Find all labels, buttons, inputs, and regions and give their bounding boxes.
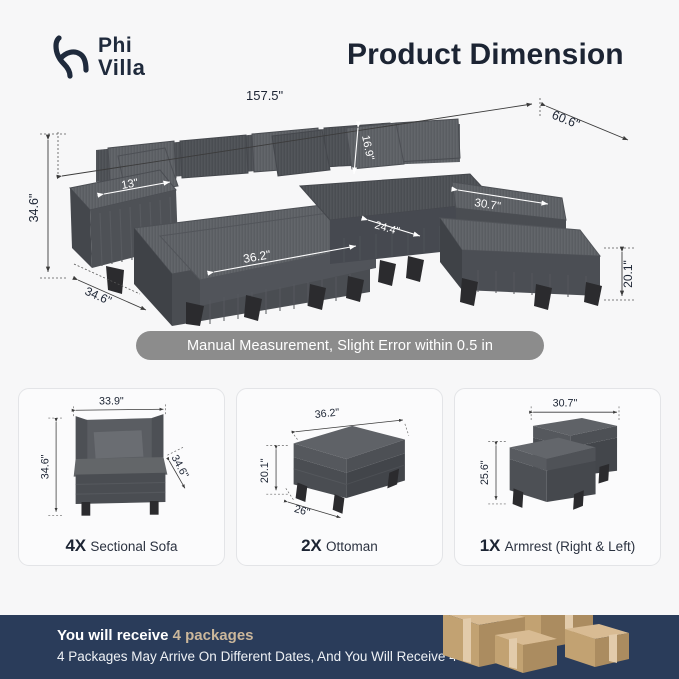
card-ottoman[interactable]: 36.2" 20.1" 26" 2X Ottoman	[236, 388, 443, 566]
sofa-body	[70, 119, 602, 326]
card2-dim-depth: 26"	[293, 503, 312, 519]
dim-overall-width: 157.5"	[246, 88, 284, 103]
card3-dim-height: 25.6"	[479, 460, 491, 485]
card-qty: 1X	[480, 536, 500, 555]
sectional-sofa-art: 33.9" 34.6" 34.6"	[19, 391, 224, 531]
card-name: Ottoman	[326, 539, 378, 554]
measurement-note: Manual Measurement, Slight Error within …	[136, 331, 544, 360]
measurement-note-text: Manual Measurement, Slight Error within …	[187, 338, 493, 354]
brand-name: Phi Villa	[98, 36, 145, 78]
card-caption: 2X Ottoman	[237, 536, 442, 556]
dim-overall-depth: 60.6"	[550, 108, 582, 132]
cardboard-boxes-icon	[433, 615, 673, 677]
card-caption: 4X Sectional Sofa	[19, 536, 224, 556]
component-cards: 33.9" 34.6" 34.6" 4X Sectional Sofa	[18, 388, 661, 566]
packages-lead: You will receive	[57, 627, 173, 644]
card3-dim-width: 30.7"	[553, 397, 578, 409]
card-armrest[interactable]: 30.7" 25.6" 1X Armrest (Right & Left)	[454, 388, 661, 566]
sofa-illustration: 157.5" 60.6" 34.6" 13" 16.9" 24.4"	[0, 78, 679, 326]
card1-dim-width: 33.9"	[99, 395, 124, 407]
card-qty: 2X	[301, 536, 321, 555]
card-sectional-sofa[interactable]: 33.9" 34.6" 34.6" 4X Sectional Sofa	[18, 388, 225, 566]
brand-name-line1: Phi	[98, 36, 145, 57]
page-title: Product Dimension	[347, 38, 624, 72]
product-dimension-infographic: Phi Villa Product Dimension	[0, 0, 679, 679]
card-name: Sectional Sofa	[90, 539, 177, 554]
dim-overall-height: 34.6"	[27, 194, 41, 223]
brand-name-line2: Villa	[98, 57, 145, 79]
card-qty: 4X	[66, 536, 86, 555]
armrest-pair-art: 30.7" 25.6"	[455, 391, 660, 531]
packages-count: 4 packages	[173, 627, 254, 644]
card1-dim-height: 34.6"	[39, 454, 51, 479]
packages-subtitle: 4 Packages May Arrive On Different Dates…	[57, 649, 498, 664]
card-name: Armrest (Right & Left)	[505, 539, 636, 554]
brand-logo: Phi Villa	[52, 34, 145, 80]
packages-banner: You will receive 4 packages 4 Packages M…	[0, 615, 679, 679]
dim-seat-height: 20.1"	[621, 260, 635, 288]
packages-headline: You will receive 4 packages	[57, 627, 254, 644]
card1-dim-depth: 34.6"	[169, 453, 191, 481]
phivilla-curve-mark-icon	[52, 34, 92, 80]
card2-dim-width: 36.2"	[314, 406, 340, 421]
card-caption: 1X Armrest (Right & Left)	[455, 536, 660, 556]
ottoman-art: 36.2" 20.1" 26"	[237, 391, 442, 531]
card2-dim-height: 20.1"	[259, 458, 271, 483]
